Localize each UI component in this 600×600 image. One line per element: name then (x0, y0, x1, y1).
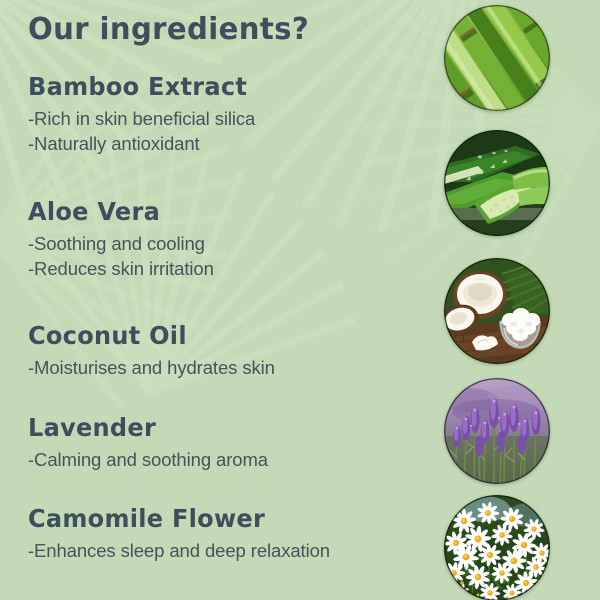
bamboo-photo (444, 5, 550, 111)
ingredient-benefits: -Calming and soothing aroma (28, 448, 268, 473)
lavender-photo (444, 378, 550, 484)
aloe-vera-photo (444, 130, 550, 236)
ingredient-block-bamboo-extract: Bamboo Extract -Rich in skin beneficial … (28, 74, 256, 156)
ingredient-benefit-line: -Moisturises and hydrates skin (28, 356, 275, 381)
ingredient-block-aloe-vera: Aloe Vera -Soothing and cooling -Reduces… (28, 199, 214, 281)
ingredient-benefit-line: -Naturally antioxidant (28, 132, 256, 157)
ingredient-name: Aloe Vera (28, 199, 206, 225)
ingredient-benefit-line: -Enhances sleep and deep relaxation (28, 539, 330, 564)
ingredient-benefit-line: -Rich in skin beneficial silica (28, 107, 256, 132)
ingredient-name: Coconut Oil (28, 323, 265, 349)
ingredient-block-coconut-oil: Coconut Oil -Moisturises and hydrates sk… (28, 323, 275, 381)
ingredient-name: Bamboo Extract (28, 74, 247, 100)
ingredient-benefit-line: -Calming and soothing aroma (28, 448, 268, 473)
ingredient-benefit-line: -Reduces skin irritation (28, 257, 214, 282)
ingredient-benefits: -Rich in skin beneficial silica -Natural… (28, 107, 256, 156)
ingredient-benefits: -Enhances sleep and deep relaxation (28, 539, 330, 564)
ingredient-benefits: -Soothing and cooling -Reduces skin irri… (28, 232, 214, 281)
ingredients-poster: Our ingredients? Bamboo Extract -Rich in… (0, 0, 600, 600)
ingredient-text-column: Our ingredients? Bamboo Extract -Rich in… (0, 0, 440, 600)
ingredient-benefit-line: -Soothing and cooling (28, 232, 214, 257)
ingredient-name: Lavender (28, 415, 258, 441)
coconut-oil-photo (444, 258, 550, 364)
camomile-flower-photo (444, 495, 550, 600)
ingredient-block-lavender: Lavender -Calming and soothing aroma (28, 415, 268, 473)
ingredient-block-camomile-flower: Camomile Flower -Enhances sleep and deep… (28, 506, 330, 564)
page-title: Our ingredients? (28, 12, 309, 47)
ingredient-benefits: -Moisturises and hydrates skin (28, 356, 275, 381)
ingredient-name: Camomile Flower (28, 506, 318, 532)
